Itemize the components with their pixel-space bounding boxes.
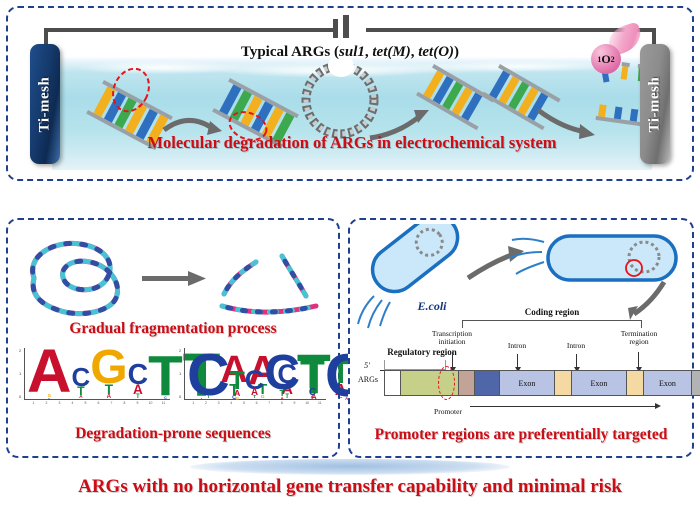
- logo-column-4: CAT: [128, 364, 148, 400]
- bottom-right-panel-promoter: E.coli Coding region Regulatory region T…: [348, 218, 694, 458]
- exon-2-label: Exon: [591, 379, 608, 388]
- logo-columns: AGCCTAGTACATTCTAATCATGCATTATAC: [27, 348, 170, 400]
- logo-letter-T: T: [207, 396, 210, 400]
- promoter-label: Promoter: [420, 408, 476, 416]
- exon-1: Exon: [500, 371, 555, 395]
- gene-structure-track: ExonExonExon: [384, 370, 700, 396]
- transcription-initiation-block: [475, 371, 500, 395]
- logo-x-tick: 7: [263, 401, 276, 410]
- circuit-wire-left: [44, 28, 334, 32]
- graphical-abstract: Molecular degradation of ARGs in electro…: [0, 0, 700, 513]
- logo-x-tick: 8: [118, 401, 131, 410]
- bl-caption-fragmentation: Gradual fragmentation process: [8, 320, 338, 338]
- battery-plate-short: [333, 19, 338, 39]
- intron-1-label: Intron: [494, 342, 540, 350]
- promoter-highlight-oval: [438, 366, 455, 400]
- logo-x-tick: 4: [225, 401, 238, 410]
- logo-y-tick: 2: [179, 348, 181, 353]
- exon-3-label: Exon: [659, 379, 676, 388]
- ecoli-transfer-illustration: [352, 224, 694, 334]
- tr-line-2: region: [629, 337, 648, 346]
- ecoli-label: E.coli: [402, 300, 462, 313]
- logo-x-tick: 11: [157, 401, 170, 410]
- logo-x-tick: 9: [131, 401, 144, 410]
- logo-column-1: CT: [187, 352, 230, 400]
- transcription-initiation-pointer: [452, 352, 453, 368]
- logo-letter-T: T: [136, 395, 140, 400]
- electrode-left-label: Ti-mesh: [37, 76, 54, 132]
- five-prime-utr: [385, 371, 401, 395]
- logo-letter-T: T: [148, 355, 183, 397]
- logo-letter-A: A: [281, 397, 284, 400]
- logo-letter-A: A: [27, 348, 72, 394]
- logo-x-tick: 10: [301, 401, 314, 410]
- sequence-logo-left: 210AGCCTAGTACATTCTAATCATGCATTATAC1234567…: [24, 348, 170, 410]
- footer-caption: ARGs with no horizontal gene transfer ca…: [0, 476, 700, 498]
- termination-region-pointer: [638, 352, 639, 368]
- intron-2: [627, 371, 644, 395]
- logo-column-4: CTA: [264, 354, 300, 400]
- logo-letter-C: C: [245, 369, 265, 389]
- transcription-initiation-label: Transcription initiation: [410, 330, 494, 346]
- logo-column-2: TAG: [230, 372, 245, 400]
- gene-tetM: tet(M): [372, 44, 410, 60]
- oxidant-label: O: [601, 52, 610, 67]
- logo-y-tick: 0: [179, 394, 181, 399]
- intron-2-pointer: [576, 354, 577, 368]
- logo-x-tick: 5: [238, 401, 251, 410]
- logo-y-tick: 1: [179, 371, 181, 376]
- logo-x-tick: 3: [212, 401, 225, 410]
- top-panel-electrochemical-system: Molecular degradation of ARGs in electro…: [6, 6, 694, 181]
- footer-shadow: [190, 459, 510, 475]
- bottom-left-panel-degradation: Gradual fragmentation process 210AGCCTAG…: [6, 218, 340, 458]
- logo-x-tick: 9: [288, 401, 301, 410]
- plasmid-circle: [306, 55, 374, 134]
- bl-caption-sequences: Degradation-prone sequences: [8, 425, 338, 443]
- logo-column-3: GTA: [90, 349, 127, 400]
- logo-x-tick: 3: [53, 401, 66, 410]
- dna-fragmentation-illustration: [10, 226, 340, 322]
- logo-letter-G: G: [90, 349, 127, 385]
- exon-3: Exon: [644, 371, 692, 395]
- br-caption-promoter: Promoter regions are preferentially targ…: [350, 426, 692, 444]
- logo-letter-C: C: [264, 354, 300, 391]
- promoter-block: [459, 371, 475, 395]
- logo-letter-T: T: [300, 359, 325, 389]
- logo-x-ticks: 1234567891011: [187, 401, 326, 410]
- exon-1-label: Exon: [519, 379, 536, 388]
- logo-y-axis: [24, 348, 25, 400]
- logo-letter-C: C: [187, 352, 230, 396]
- logo-x-tick: 2: [200, 401, 213, 410]
- logo-column-3: CAT: [245, 369, 265, 400]
- typical-args-headline: Typical ARGs (sul1, tet(M), tet(O)): [8, 44, 692, 61]
- logo-x-tick: 7: [105, 401, 118, 410]
- logo-letter-C: C: [164, 397, 167, 400]
- gene-tetO: tet(O): [418, 44, 454, 60]
- logo-y-tick: 1: [19, 371, 21, 376]
- headline-suffix: ): [454, 44, 459, 60]
- electrode-right-label: Ti-mesh: [647, 76, 664, 132]
- logo-columns: CTTAGCATCTATCACACTTAGCTACTACT: [187, 348, 326, 400]
- logo-column-5: TCA: [300, 359, 325, 400]
- sequence-logo-right: 210CTTAGCATCTATCACACTTAGCTACTACT12345678…: [184, 348, 326, 410]
- logo-x-tick: 4: [66, 401, 79, 410]
- logo-x-tick: 6: [92, 401, 105, 410]
- logo-letter-A: A: [107, 395, 111, 400]
- singlet-oxygen-icon: 1O2: [591, 44, 621, 74]
- logo-column-5: TC: [148, 355, 183, 400]
- headline-prefix: Typical ARGs (: [241, 44, 339, 60]
- logo-letter-A: A: [79, 396, 83, 400]
- intron-2-label: Intron: [553, 342, 599, 350]
- logo-x-tick: 6: [250, 401, 263, 410]
- logo-column-2: CTA: [72, 368, 91, 400]
- logo-x-tick: 1: [187, 401, 200, 410]
- logo-letter-C: C: [48, 398, 50, 400]
- intron-1: [555, 371, 572, 395]
- electrode-ti-mesh-left[interactable]: Ti-mesh: [30, 44, 60, 164]
- logo-x-ticks: 1234567891011: [27, 401, 170, 410]
- args-row-label: ARGs: [352, 376, 384, 384]
- logo-column-1: AGC: [27, 348, 72, 400]
- logo-x-tick: 10: [144, 401, 157, 410]
- logo-y-tick: 2: [19, 348, 21, 353]
- coding-region-label: Coding region: [502, 308, 602, 317]
- logo-letter-G: G: [236, 397, 239, 400]
- top-panel-caption: Molecular degradation of ARGs in electro…: [52, 133, 652, 153]
- logo-x-tick: 5: [79, 401, 92, 410]
- regulatory-region-bracket: [384, 360, 446, 370]
- logo-x-tick: 1: [27, 401, 40, 410]
- exon-2: Exon: [572, 371, 627, 395]
- logo-y-tick: 0: [19, 394, 21, 399]
- transcription-direction-arrow: [470, 406, 656, 407]
- gene-sul1: sul1: [339, 44, 365, 60]
- logo-x-tick: 11: [313, 401, 326, 410]
- logo-letter-A: A: [311, 396, 315, 400]
- ti-line-2: initiation: [438, 337, 465, 346]
- regulatory-region-label: Regulatory region: [374, 348, 470, 357]
- logo-y-axis: [184, 348, 185, 400]
- logo-x-tick: 2: [40, 401, 53, 410]
- oxidant-subscript: 2: [611, 55, 615, 64]
- termination-block: [692, 371, 700, 395]
- termination-region-label: Termination region: [606, 330, 672, 346]
- logo-letter-T: T: [253, 396, 256, 400]
- logo-x-tick: 8: [275, 401, 288, 410]
- five-prime-label: 5': [356, 362, 378, 370]
- electrode-ti-mesh-right[interactable]: Ti-mesh: [640, 44, 670, 164]
- intron-1-pointer: [517, 354, 518, 368]
- coding-region-bracket: [462, 320, 642, 328]
